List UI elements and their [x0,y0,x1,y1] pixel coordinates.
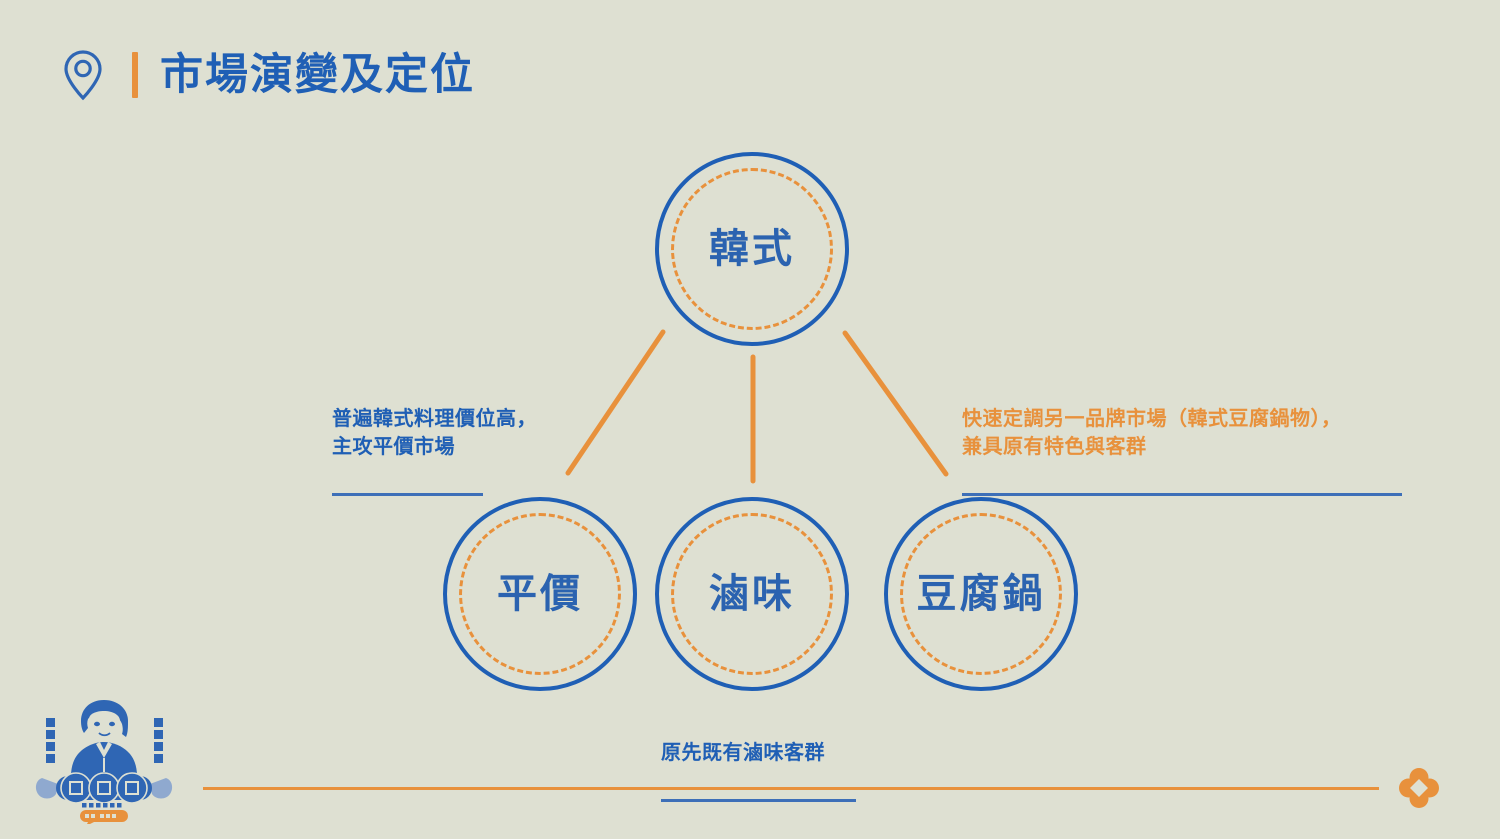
node-label: 豆腐鍋 [917,574,1046,614]
footer-divider [203,787,1379,790]
logo-korean-badge [80,810,128,824]
diagram-node-affordable[interactable]: 平價 [443,497,637,691]
logo-grandmother-illustration [71,700,137,776]
caption-right-text: 快速定調另一品牌市場（韓式豆腐鍋物）， 兼具原有特色與客群 [962,405,1414,462]
four-petal-flower-icon [1399,768,1439,808]
caption-left: 普遍韓式料理價位高， 主攻平價市場 [332,382,592,519]
node-label: 韓式 [709,229,795,269]
node-label: 平價 [497,574,583,614]
location-pin-icon [62,49,104,101]
caption-right: 快速定調另一品牌市場（韓式豆腐鍋物）， 兼具原有特色與客群 [962,382,1414,519]
title-accent-bar [132,52,138,98]
caption-left-underline [332,493,483,496]
caption-right-underline [962,493,1402,496]
slide-header: 市場演變及定位 [62,44,475,106]
caption-bottom-text: 原先既有滷味客群 [661,739,871,767]
slide-canvas: 市場演變及定位 韓式 平價 滷味 豆腐鍋 普遍韓式料理價位高， 主攻平價市場 快… [0,0,1500,839]
diagram-node-braised[interactable]: 滷味 [655,497,849,691]
logo-left-tagline [46,718,55,763]
caption-left-text: 普遍韓式料理價位高， 主攻平價市場 [332,405,592,462]
page-title: 市場演變及定位 [160,54,475,97]
brand-logo [28,692,180,824]
caption-bottom: 原先既有滷味客群 [661,716,871,825]
node-label: 滷味 [709,574,795,614]
logo-brand-badges [56,773,152,803]
connector-top-to-bottom-right [845,333,946,474]
diagram-node-korean-style[interactable]: 韓式 [655,152,849,346]
caption-bottom-underline [661,799,856,802]
logo-right-tagline [154,718,163,763]
diagram-node-tofu-hotpot[interactable]: 豆腐鍋 [884,497,1078,691]
logo-subtitle [82,803,122,808]
